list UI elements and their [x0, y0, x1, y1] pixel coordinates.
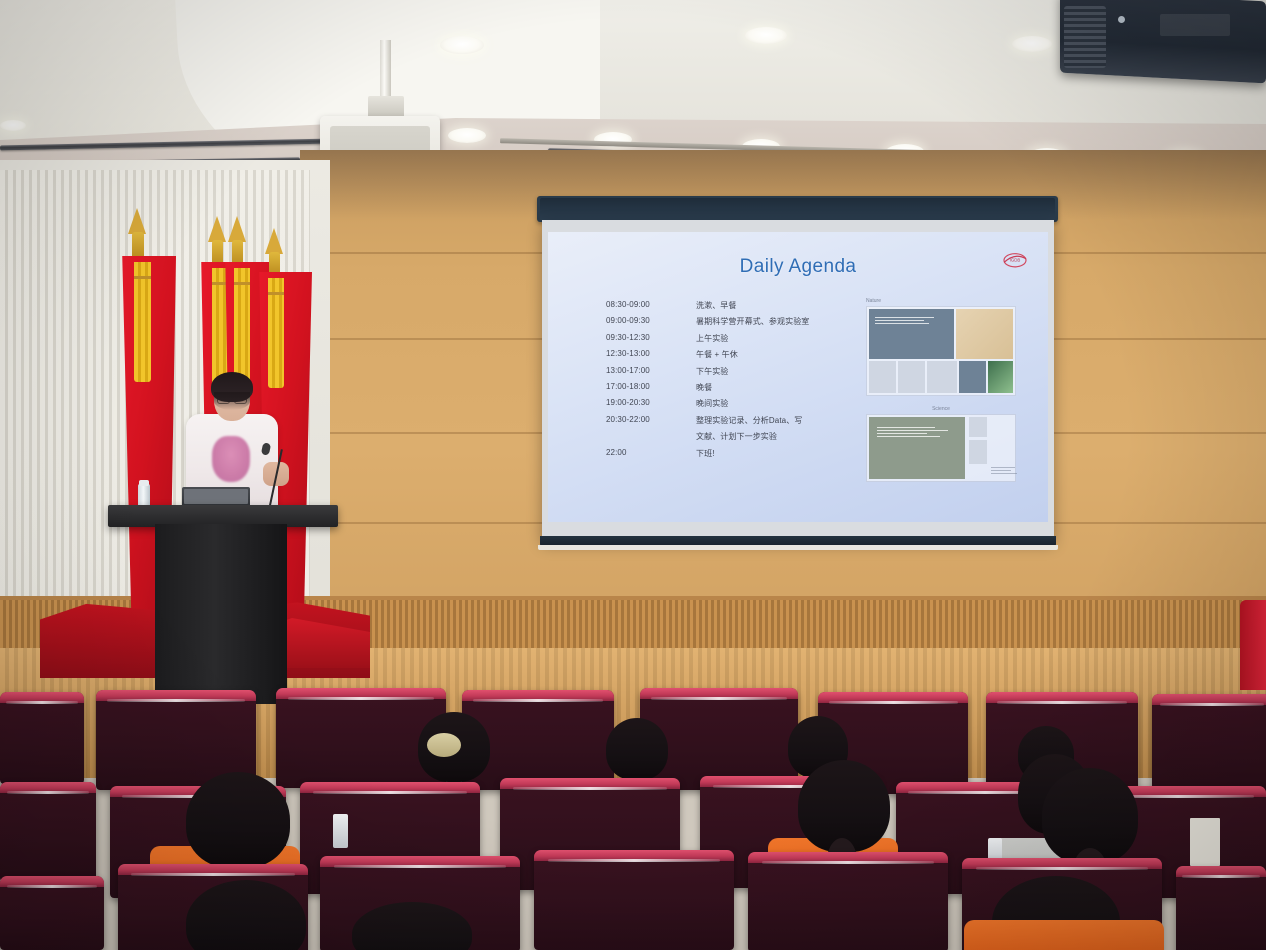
thumb-hero-tile — [869, 417, 965, 479]
agenda-task: 整理实验记录、分析Data、写 — [696, 415, 802, 426]
ceiling-downlight — [1012, 36, 1052, 52]
thumb-tile — [927, 361, 957, 393]
agenda-row: 22:00 下班! — [606, 448, 856, 459]
agenda-row: 19:00-20:30 晚间实验 — [606, 398, 856, 409]
projector-led-icon — [1118, 16, 1125, 23]
agenda-time: 12:30-13:00 — [606, 349, 684, 360]
projection-screen[interactable]: Daily Agenda IGDB 08:30-09:00 洗漱、早餐 09:0… — [548, 232, 1048, 522]
podium-body — [155, 524, 287, 704]
flag-finial-icon — [228, 216, 246, 242]
thumb-hero-tile — [869, 309, 954, 359]
agenda-time: 17:00-18:00 — [606, 382, 684, 393]
ceiling-downlight — [440, 36, 484, 54]
agenda-row: 09:00-09:30 暑期科学营开幕式、参观实验室 — [606, 316, 856, 327]
ceiling-downlight — [745, 27, 787, 44]
agenda-task: 上午实验 — [696, 333, 728, 344]
agenda-task: 下午实验 — [696, 366, 728, 377]
seat[interactable] — [1152, 694, 1266, 798]
journal-thumbnails: Nature Science — [866, 298, 1016, 492]
agenda-task: 洗漱、早餐 — [696, 300, 737, 311]
svg-text:IGDB: IGDB — [1010, 258, 1021, 263]
flag-tassel-band — [134, 276, 151, 279]
thumb-cover-tile — [988, 361, 1013, 393]
hair-scrunchie — [427, 733, 461, 757]
flag-tassel-band — [268, 292, 284, 295]
seat[interactable] — [0, 876, 104, 950]
journal-thumbnail-nature — [866, 306, 1016, 396]
thumb-tile — [869, 361, 896, 393]
handout-paper[interactable] — [1190, 818, 1220, 866]
agenda-row: 08:30-09:00 洗漱、早餐 — [606, 300, 856, 311]
agenda-row: 20:30-22:00 整理实验记录、分析Data、写 — [606, 415, 856, 426]
agenda-time-blank — [606, 431, 684, 442]
flag-tassel-band — [212, 282, 228, 285]
agenda-time: 22:00 — [606, 448, 684, 459]
agenda-task: 暑期科学营开幕式、参观实验室 — [696, 316, 809, 327]
agenda-task: 晚间实验 — [696, 398, 728, 409]
agenda-time: 09:30-12:30 — [606, 333, 684, 344]
agenda-row: 12:30-13:00 午餐 + 午休 — [606, 349, 856, 360]
agenda-time: 09:00-09:30 — [606, 316, 684, 327]
screen-header-bar — [540, 198, 1055, 220]
seat[interactable] — [748, 852, 948, 950]
audience-shoulders — [964, 920, 1164, 950]
seat[interactable] — [1176, 866, 1266, 950]
projector-label — [1160, 14, 1230, 36]
presenter-shirt-graphic — [212, 436, 250, 482]
agenda-time: 13:00-17:00 — [606, 366, 684, 377]
thumbnail-label: Science — [866, 406, 1016, 412]
agenda-row: 17:00-18:00 晚餐 — [606, 382, 856, 393]
thumb-tile — [898, 361, 925, 393]
thumb-image-tile — [956, 309, 1013, 359]
institute-logo-icon: IGDB — [1000, 250, 1030, 272]
agenda-row-continuation: 文献、计划下一步实验 — [606, 431, 856, 442]
flag-finial-icon — [128, 208, 146, 234]
agenda-task: 文献、计划下一步实验 — [696, 431, 777, 442]
audience-head — [186, 772, 290, 868]
agenda-task: 晚餐 — [696, 382, 712, 393]
right-curtain — [1240, 600, 1266, 690]
flag-tassel — [134, 262, 151, 382]
thumbnail-label: Nature — [866, 298, 1016, 304]
agenda-list: 08:30-09:00 洗漱、早餐 09:00-09:30 暑期科学营开幕式、参… — [606, 300, 856, 464]
auditorium-scene: Daily Agenda IGDB 08:30-09:00 洗漱、早餐 09:0… — [0, 0, 1266, 950]
seat[interactable] — [0, 782, 96, 882]
flag-finial-icon — [208, 216, 226, 242]
flag-finial-icon — [265, 228, 283, 254]
seat[interactable] — [534, 850, 734, 950]
journal-thumbnail-science — [866, 414, 1016, 482]
agenda-time: 19:00-20:30 — [606, 398, 684, 409]
agenda-row: 13:00-17:00 下午实验 — [606, 366, 856, 377]
flag-tassel — [212, 268, 228, 386]
agenda-task: 午餐 + 午休 — [696, 349, 738, 360]
thumb-sidebar — [967, 417, 1013, 479]
agenda-time: 20:30-22:00 — [606, 415, 684, 426]
agenda-time: 08:30-09:00 — [606, 300, 684, 311]
flag-tassel-band — [234, 282, 250, 285]
flag-tassel — [234, 268, 250, 388]
ceiling-downlight — [0, 120, 26, 131]
agenda-row: 09:30-12:30 上午实验 — [606, 333, 856, 344]
thumb-tile — [959, 361, 986, 393]
screen-bottom-lip — [538, 545, 1058, 550]
audience-head — [606, 718, 668, 780]
speaker-mount-pole — [380, 40, 391, 102]
flag-pole-head — [132, 232, 144, 260]
presenter-hair-shadow — [214, 392, 250, 410]
projector-vent-icon — [1064, 6, 1106, 68]
agenda-task: 下班! — [696, 448, 715, 459]
laptop-screen — [184, 489, 248, 504]
slide-title: Daily Agenda — [548, 256, 1048, 278]
ceiling-downlight — [448, 128, 486, 143]
water-bottle-cap — [139, 480, 149, 486]
smartphone[interactable] — [333, 814, 348, 848]
seat[interactable] — [0, 692, 84, 784]
